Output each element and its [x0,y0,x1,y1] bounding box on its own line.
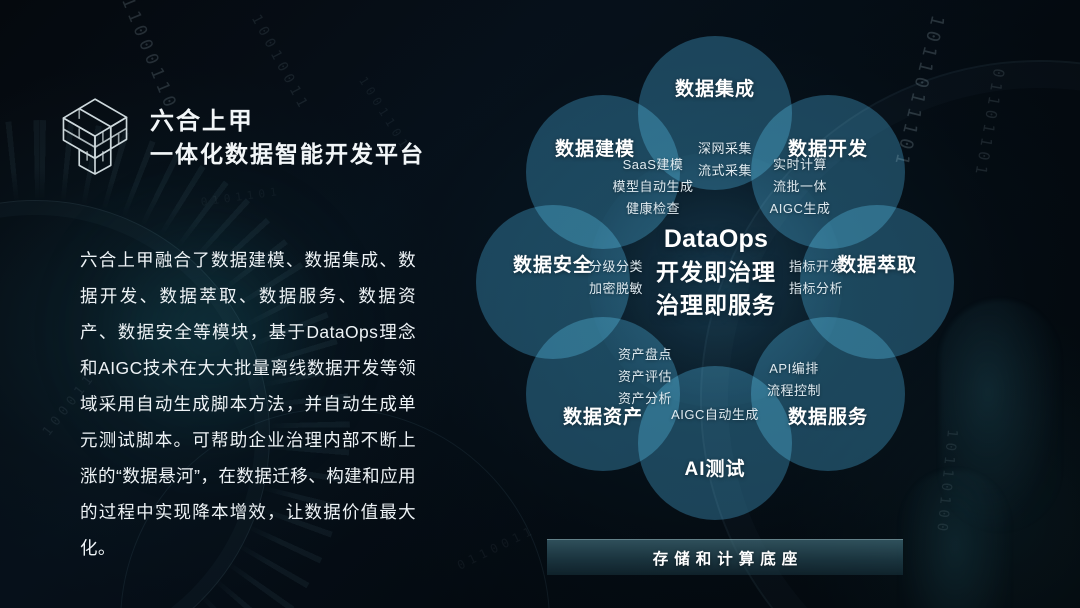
binary-stream-8: 0110011 [455,522,538,572]
label-data-integration: 数据集成 [638,74,792,101]
diagram-core: DataOps 开发即治理 治理即服务 [610,222,822,322]
core-slogan-one: 开发即治理 [610,256,822,289]
base-bar-label: 存储和计算底座 [647,547,804,569]
features-data-asset: 资产盘点资产评估资产分析 [590,344,700,410]
features-data-service: API编排流程控制 [742,358,846,402]
features-data-modeling: SaaS建模模型自动生成健康检查 [593,154,713,220]
core-title-en: DataOps [610,222,822,256]
platform-description: 六合上甲融合了数据建模、数据集成、数据开发、数据萃取、数据服务、数据资产、数据安… [80,242,416,566]
brand-subtitle: 一体化数据智能开发平台 [150,139,425,170]
binary-stream-5: 01101101 [971,67,1008,181]
isometric-brick-logo-icon [58,96,132,178]
brand-name: 六合上甲 [150,106,425,137]
features-data-development: 实时计算流批一体AIGC生成 [745,154,855,220]
capability-venn-diagram: 数据集成 数据开发 数据萃取 数据服务 AI测试 数据资产 数据安全 数据建模 … [470,34,960,504]
storage-compute-base-bar: 存储和计算底座 [547,539,903,575]
features-ai-test: AIGC自动生成 [653,404,777,426]
brand-block: 六合上甲 一体化数据智能开发平台 [58,96,425,178]
core-slogan-two: 治理即服务 [610,289,822,322]
slide-canvas: 011000110 10010011 1001101 1011011101 01… [0,0,1080,608]
binary-stream-9: 0101101 [200,185,282,209]
label-ai-test: AI测试 [638,454,792,481]
brand-text-block: 六合上甲 一体化数据智能开发平台 [150,104,425,170]
